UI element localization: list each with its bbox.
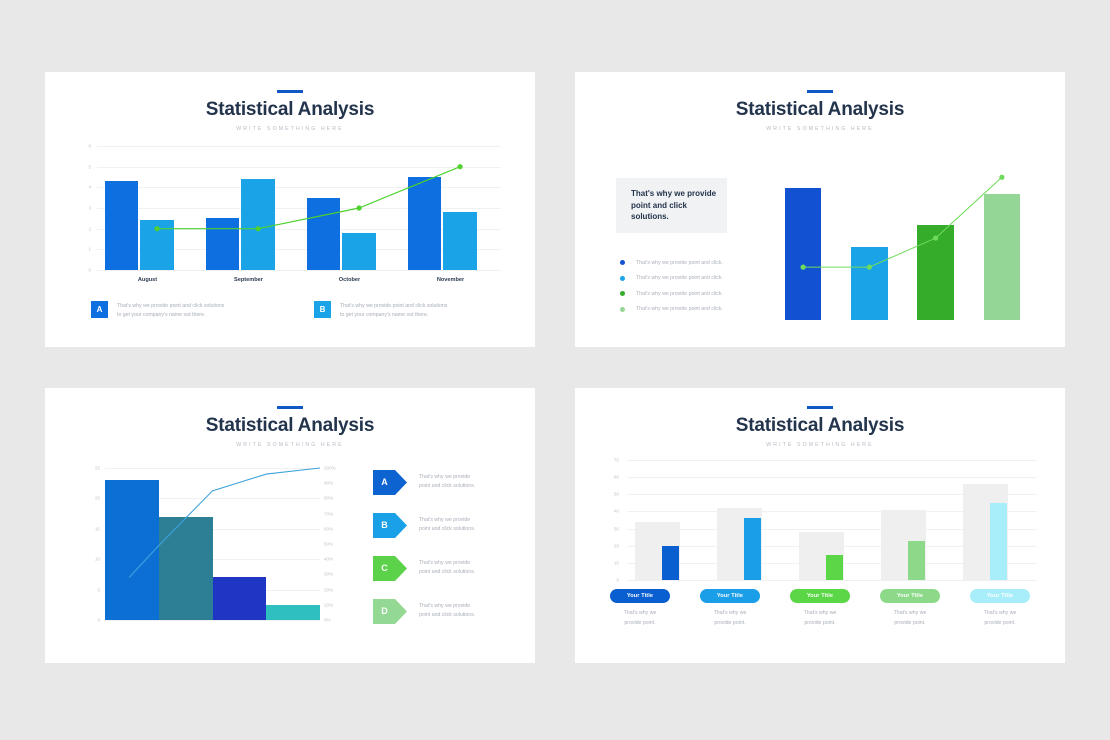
panel4-column-4: Your TitleThat's why weprovide point. — [865, 584, 955, 628]
arrow-shape-b: B — [373, 513, 407, 538]
bullet-dot — [620, 260, 625, 265]
bar-value-5 — [990, 503, 1007, 580]
arrow-text-b: That's why we providepoint and click sol… — [419, 516, 475, 535]
caption-line1: That's why we — [865, 609, 955, 619]
arrow-item-b[interactable]: BThat's why we providepoint and click so… — [373, 505, 475, 545]
card-3-header: Statistical Analysis WRITE SOMETHING HER… — [45, 388, 535, 448]
card-4-header: Statistical Analysis WRITE SOMETHING HER… — [575, 388, 1065, 448]
page-title: Statistical Analysis — [45, 99, 535, 121]
legend-text-b-line2: to get your company's name out there. — [340, 311, 447, 320]
x-axis-label: September — [198, 277, 299, 283]
bullet-row-3: That's why we provide point and click. — [616, 286, 723, 302]
arrow-item-d[interactable]: DThat's why we providepoint and click so… — [373, 591, 475, 631]
panel1-chart: 6543210AugustSeptemberOctoberNovember — [81, 146, 501, 270]
column-caption-2: That's why weprovide point. — [685, 609, 775, 628]
page-subtitle: WRITE SOMETHING HERE — [45, 126, 535, 132]
page-subtitle: WRITE SOMETHING HERE — [575, 126, 1065, 132]
card-2-header: Statistical Analysis WRITE SOMETHING HER… — [575, 72, 1065, 132]
column-caption-3: That's why weprovide point. — [775, 609, 865, 628]
slide-card-4: Statistical Analysis WRITE SOMETHING HER… — [575, 388, 1065, 663]
arrow-text-line1: That's why we provide — [419, 516, 475, 525]
gridline — [105, 620, 320, 621]
legend-chip-b: B — [314, 301, 331, 318]
arrow-letter-a: A — [373, 470, 396, 495]
bullet-label: That's why we provide point and click. — [636, 291, 723, 297]
legend-text-b-line1: That's why we provide point and click so… — [340, 302, 447, 311]
bullet-dot — [620, 291, 625, 296]
arrow-text-line1: That's why we provide — [419, 602, 475, 611]
bullet-dot — [620, 307, 625, 312]
arrow-letter-b: B — [373, 513, 396, 538]
bar-value-2 — [744, 518, 761, 580]
legend-item-a[interactable]: A That's why we provide point and click … — [91, 301, 291, 320]
arrow-text-d: That's why we providepoint and click sol… — [419, 602, 475, 621]
arrow-list: AThat's why we providepoint and click so… — [373, 462, 475, 634]
arrow-shape-c: C — [373, 556, 407, 581]
column-caption-4: That's why weprovide point. — [865, 609, 955, 628]
y-axis-tick: 20 — [607, 543, 619, 548]
title-rule — [807, 406, 833, 409]
panel3-chart: 25201510500%10%20%30%40%50%60%70%80%90%1… — [91, 468, 346, 620]
title-rule — [807, 90, 833, 93]
arrow-text-line2: point and click solutions. — [419, 611, 475, 620]
arrow-text-line2: point and click solutions. — [419, 568, 475, 577]
callout-box: That's why we provide point and click so… — [616, 178, 727, 233]
title-rule — [277, 406, 303, 409]
title-pill-5[interactable]: Your Title — [970, 589, 1030, 603]
caption-line1: That's why we — [685, 609, 775, 619]
y-axis-tick: 0 — [607, 578, 619, 583]
card-1-header: Statistical Analysis WRITE SOMETHING HER… — [45, 72, 535, 132]
trend-line — [81, 146, 501, 270]
legend-chip-a: A — [91, 301, 108, 318]
legend-text-a: That's why we provide point and click so… — [117, 301, 224, 320]
arrow-text-c: That's why we providepoint and click sol… — [419, 559, 475, 578]
y-axis-tick: 50 — [607, 492, 619, 497]
y-axis-tick: 70 — [607, 458, 619, 463]
y-axis-tick: 30 — [607, 526, 619, 531]
title-pill-4[interactable]: Your Title — [880, 589, 940, 603]
arrow-letter-c: C — [373, 556, 396, 581]
column-caption-5: That's why weprovide point. — [955, 609, 1045, 628]
bullet-row-1: That's why we provide point and click. — [616, 255, 723, 271]
bullet-row-2: That's why we provide point and click. — [616, 271, 723, 287]
bullet-list: That's why we provide point and click.Th… — [616, 255, 723, 317]
page-subtitle: WRITE SOMETHING HERE — [45, 442, 535, 448]
cumulative-line — [91, 468, 346, 620]
caption-line2: provide point. — [955, 619, 1045, 629]
slide-card-2: Statistical Analysis WRITE SOMETHING HER… — [575, 72, 1065, 347]
arrow-text-a: That's why we providepoint and click sol… — [419, 473, 475, 492]
gridline — [627, 460, 1037, 461]
arrow-shape-d: D — [373, 599, 407, 624]
page-title: Statistical Analysis — [45, 415, 535, 437]
legend-text-b: That's why we provide point and click so… — [340, 301, 447, 320]
x-axis-label: August — [97, 277, 198, 283]
callout-text: That's why we provide point and click so… — [616, 188, 727, 223]
gridline — [627, 477, 1037, 478]
bullet-label: That's why we provide point and click. — [636, 260, 723, 266]
panel4-chart: 706050403020100 — [607, 460, 1037, 580]
title-rule — [277, 90, 303, 93]
arrow-item-c[interactable]: CThat's why we providepoint and click so… — [373, 548, 475, 588]
y-axis-tick: 10 — [607, 560, 619, 565]
arrow-shape-a: A — [373, 470, 407, 495]
legend-text-a-line1: That's why we provide point and click so… — [117, 302, 224, 311]
bar-value-1 — [662, 546, 679, 580]
caption-line1: That's why we — [955, 609, 1045, 619]
caption-line2: provide point. — [775, 619, 865, 629]
page-title: Statistical Analysis — [575, 99, 1065, 121]
x-axis-label: October — [299, 277, 400, 283]
caption-line2: provide point. — [595, 619, 685, 629]
y-axis-tick: 60 — [607, 475, 619, 480]
caption-line1: That's why we — [775, 609, 865, 619]
slide-grid: Statistical Analysis WRITE SOMETHING HER… — [45, 72, 1065, 668]
panel2-chart — [770, 168, 1035, 320]
gridline — [627, 580, 1037, 581]
panel4-columns: Your TitleThat's why weprovide point.You… — [595, 584, 1045, 628]
caption-line1: That's why we — [595, 609, 685, 619]
page-title: Statistical Analysis — [575, 415, 1065, 437]
x-axis-label: November — [400, 277, 501, 283]
caption-line2: provide point. — [685, 619, 775, 629]
arrow-text-line2: point and click solutions. — [419, 525, 475, 534]
bullet-label: That's why we provide point and click. — [636, 306, 723, 312]
page-subtitle: WRITE SOMETHING HERE — [575, 442, 1065, 448]
bar-value-4 — [908, 541, 925, 580]
legend-text-a-line2: to get your company's name out there. — [117, 311, 224, 320]
slide-card-1: Statistical Analysis WRITE SOMETHING HER… — [45, 72, 535, 347]
arrow-item-a[interactable]: AThat's why we providepoint and click so… — [373, 462, 475, 502]
panel4-column-1: Your TitleThat's why weprovide point. — [595, 584, 685, 628]
title-pill-2[interactable]: Your Title — [700, 589, 760, 603]
arrow-text-line2: point and click solutions. — [419, 482, 475, 491]
legend-item-b[interactable]: B That's why we provide point and click … — [314, 301, 514, 320]
title-pill-3[interactable]: Your Title — [790, 589, 850, 603]
title-pill-1[interactable]: Your Title — [610, 589, 670, 603]
bullet-row-4: That's why we provide point and click. — [616, 302, 723, 318]
arrow-text-line1: That's why we provide — [419, 559, 475, 568]
arrow-text-line1: That's why we provide — [419, 473, 475, 482]
arrow-letter-d: D — [373, 599, 396, 624]
y-axis-tick: 40 — [607, 509, 619, 514]
panel4-column-3: Your TitleThat's why weprovide point. — [775, 584, 865, 628]
bullet-label: That's why we provide point and click. — [636, 275, 723, 281]
trend-line — [770, 168, 1035, 320]
column-caption-1: That's why weprovide point. — [595, 609, 685, 628]
gridline — [97, 270, 501, 271]
panel4-column-5: Your TitleThat's why weprovide point. — [955, 584, 1045, 628]
slide-card-3: Statistical Analysis WRITE SOMETHING HER… — [45, 388, 535, 663]
bullet-dot — [620, 276, 625, 281]
panel4-column-2: Your TitleThat's why weprovide point. — [685, 584, 775, 628]
caption-line2: provide point. — [865, 619, 955, 629]
bar-value-3 — [826, 555, 843, 580]
